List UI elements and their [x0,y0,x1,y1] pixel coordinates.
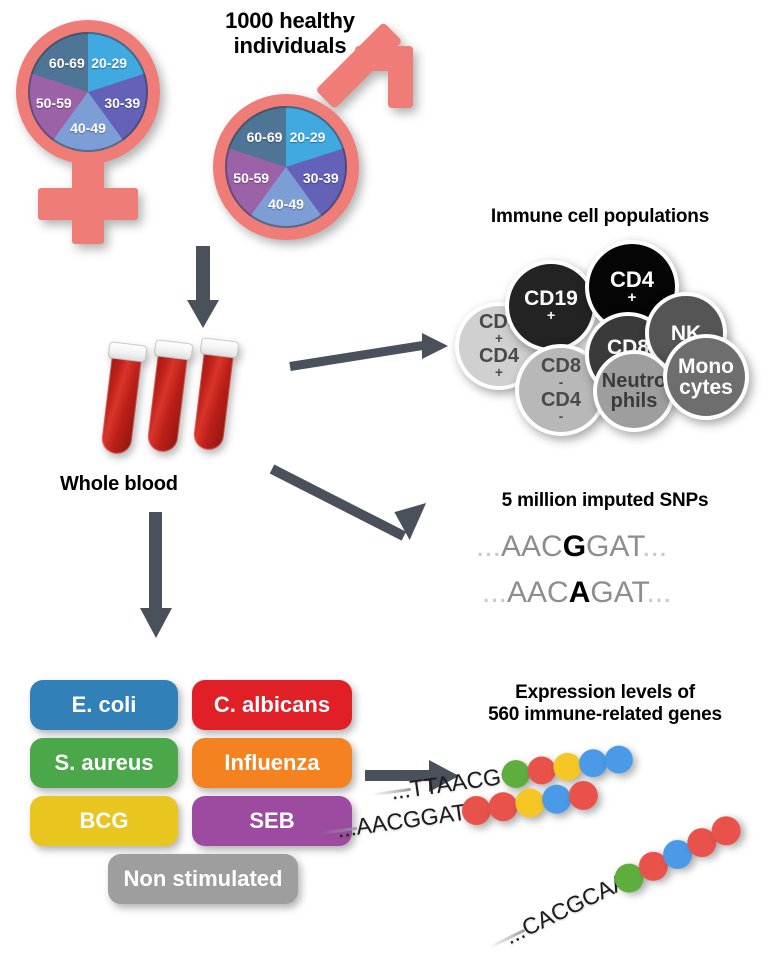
dna-bead [540,783,573,816]
arrow-head [422,333,448,359]
snp-segment: ... [476,530,501,563]
stimulus-c-albicans[interactable]: C. albicans [192,680,352,730]
snp-segment: GAT [590,576,646,609]
age-group-label: 20-29 [91,55,127,71]
stimulus-label: S. aureus [54,750,153,776]
age-pie-male-labels: 20-2930-3940-4950-5960-69 [225,106,347,228]
section-title-snps: 5 million imputed SNPs [455,490,755,512]
age-group-label: 20-29 [290,129,326,145]
stimulus-label: E. coli [72,692,137,718]
dna-bead [552,751,584,783]
stimulus-label: Non stimulated [124,866,283,892]
snp-segment: GAT [586,530,642,563]
blood-tube [192,351,234,452]
stimulus-label: Influenza [224,750,319,776]
diagram-canvas: 1000 healthy individuals 20-2930-3940-49… [0,0,771,922]
stimulus-e-coli[interactable]: E. coli [30,680,178,730]
stimulus-label: C. albicans [214,692,330,718]
female-symbol: 20-2930-3940-4950-5960-69 [10,16,170,246]
section-title-expression: Expression levels of 560 immune-related … [440,682,770,726]
label-whole-blood: Whole blood [60,473,260,496]
dna-bead [513,787,546,820]
expression-title-line1: Expression levels of [440,682,770,704]
arrow-cohort-to-blood [186,246,222,332]
blood-tubes-group [100,338,260,466]
age-group-label: 40-49 [70,120,106,136]
immune-cell-cd19: CD19+ [505,260,597,352]
snp-sequence-row: ...AACGGAT... [476,530,667,564]
age-pie-female-labels: 20-2930-3940-4950-5960-69 [28,32,148,152]
immune-cell-label: CD4+ [610,269,654,306]
age-group-label: 60-69 [49,55,85,71]
dna-sequence-text: ...CACGCAA [500,868,631,951]
arrow-shaft [149,512,162,612]
snp-sequence-block: ...AACGGAT......AACAGAT... [476,530,756,630]
stimulus-influenza[interactable]: Influenza [192,738,352,788]
snp-variant-allele: G [563,530,586,563]
male-arrow-barb-side [388,46,413,108]
blood-tube-body [146,353,188,454]
snp-segment: AAC [507,576,569,609]
age-group-label: 30-39 [303,170,339,186]
dna-bead [487,790,520,823]
stimulus-s-aureus[interactable]: S. aureus [30,738,178,788]
stimulus-non-stimulated[interactable]: Non stimulated [108,854,298,904]
arrow-blood-to-stimuli [138,512,174,642]
snp-variant-allele: A [569,576,591,609]
blood-tube [100,355,142,456]
dna-bead [577,747,609,779]
section-title-immune: Immune cell populations [440,206,760,228]
snp-segment: ... [482,576,507,609]
blood-tube-body [100,355,142,456]
immune-cell-label: CD19+ [524,288,578,323]
age-group-label: 40-49 [268,196,304,212]
stimulus-label: BCG [80,808,129,834]
age-group-label: 50-59 [36,95,72,111]
immune-cell-neutrophils: Neutrophils [593,350,675,432]
expression-title-line2: 560 immune-related genes [440,704,770,726]
arrow-blood-to-immune [290,330,460,380]
blood-tube-body [192,351,234,452]
stimuli-group: E. coliC. albicansS. aureusInfluenzaBCGS… [30,680,350,892]
female-stem-horizontal [38,188,138,220]
dna-bead [603,744,635,776]
arrow-head [187,300,219,328]
stimulus-bcg[interactable]: BCG [30,796,178,846]
arrow-shaft [289,340,427,370]
dna-bead [567,779,600,812]
snp-segment: ... [647,576,672,609]
age-group-label: 30-39 [104,95,140,111]
blood-tube [146,353,188,454]
immune-cell-label: Neutrophils [602,371,666,411]
immune-cell-label: CD8-CD4- [541,356,581,423]
immune-cell-monocytes: Monocytes [663,334,749,420]
arrow-blood-to-snps [272,452,462,562]
snp-sequence-row: ...AACAGAT... [482,576,672,610]
snp-segment: AAC [501,530,563,563]
stimulus-seb[interactable]: SEB [192,796,352,846]
arrow-head [394,503,434,542]
immune-cell-cluster: CD8+CD4+CD19+CD4+CD8-CD4-CD8+NKNeutrophi… [455,240,771,420]
arrow-head [140,608,172,638]
dna-strand-group: ...TTAACGG...AACGGAT...CACGCAA [440,730,771,910]
age-group-label: 50-59 [233,170,269,186]
stimulus-label: SEB [249,808,294,834]
male-symbol: 20-2930-3940-4950-5960-69 [205,58,405,248]
arrow-shaft [196,246,210,304]
dna-sequence-text: ...AACGGAT [335,799,467,844]
arrow-shaft [270,465,406,541]
age-group-label: 60-69 [247,129,283,145]
dna-bead [526,755,558,787]
immune-cell-label: Monocytes [678,356,734,398]
snp-segment: ... [642,530,667,563]
